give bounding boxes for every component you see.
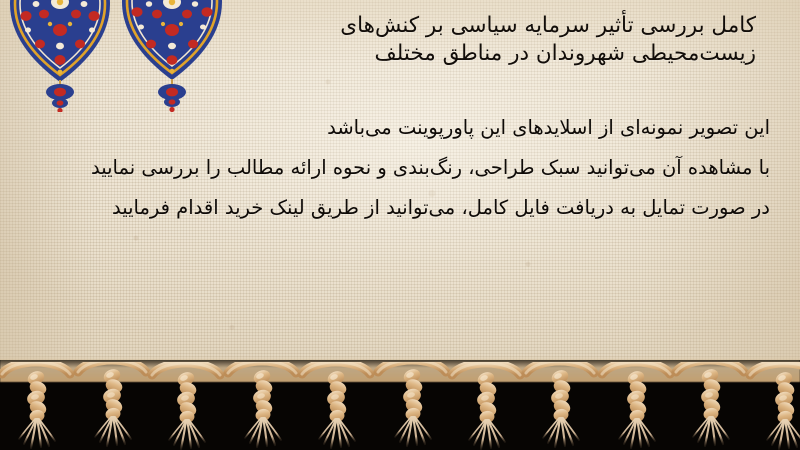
slide-title-line-1: کامل بررسی تأثیر سرمایه سیاسی بر کنش‌های	[216, 12, 756, 40]
carpet-selvedge-edge	[0, 356, 800, 382]
slide-body: این تصویر نمونه‌ای از اسلایدهای این پاور…	[70, 108, 770, 228]
presentation-slide: کامل بررسی تأثیر سرمایه سیاسی بر کنش‌های…	[0, 0, 800, 450]
body-line-3: در صورت تمایل به دریافت فایل کامل، می‌تو…	[70, 188, 770, 228]
slide-title-line-2: زیست‌محیطی شهروندان در مناطق مختلف	[216, 40, 756, 68]
body-line-1: این تصویر نمونه‌ای از اسلایدهای این پاور…	[70, 108, 770, 148]
slide-title: کامل بررسی تأثیر سرمایه سیاسی بر کنش‌های…	[216, 12, 756, 68]
body-line-2: با مشاهده آن می‌توانید سبک طراحی، رنگ‌بن…	[70, 148, 770, 188]
